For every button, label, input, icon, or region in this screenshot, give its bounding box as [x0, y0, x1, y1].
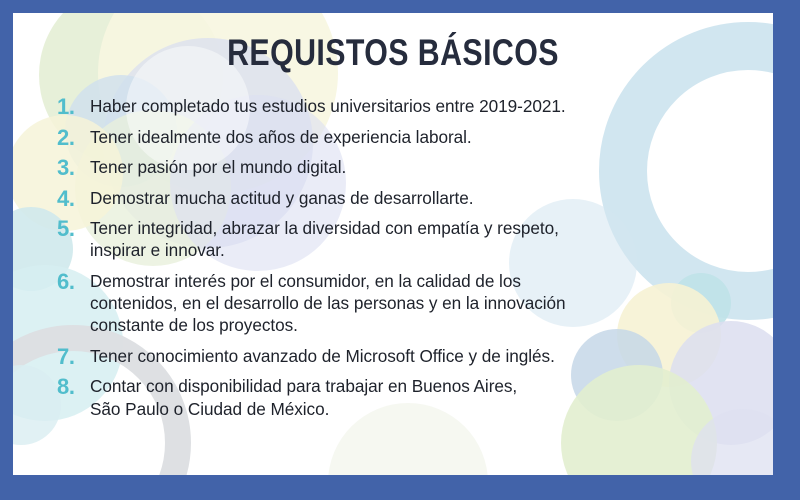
list-item-text: Tener pasión por el mundo digital.: [90, 156, 763, 178]
list-item: 7. Tener conocimiento avanzado de Micros…: [57, 345, 763, 367]
slide-frame: REQUISTOS BÁSICOS 1. Haber completado tu…: [0, 0, 800, 500]
page-title: REQUISTOS BÁSICOS: [81, 32, 704, 74]
list-item-number: 3.: [57, 155, 84, 181]
list-item-text: Tener integridad, abrazar la diversidad …: [90, 217, 763, 261]
list-item-text: Demostrar mucha actitud y ganas de desar…: [90, 187, 763, 209]
list-item-number: 8.: [57, 374, 84, 400]
list-item: 4. Demostrar mucha actitud y ganas de de…: [57, 187, 763, 209]
list-item: 5. Tener integridad, abrazar la diversid…: [57, 217, 763, 261]
list-item-text: Demostrar interés por el consumidor, en …: [90, 270, 763, 336]
list-item: 8. Contar con disponibilidad para trabaj…: [57, 375, 763, 419]
list-item-number: 4.: [57, 186, 84, 212]
requirements-list: 1. Haber completado tus estudios univers…: [57, 95, 763, 428]
list-item-number: 5.: [57, 216, 84, 242]
slide-content: REQUISTOS BÁSICOS 1. Haber completado tu…: [13, 13, 773, 475]
list-item-number: 7.: [57, 344, 84, 370]
list-item-text: Tener conocimiento avanzado de Microsoft…: [90, 345, 763, 367]
list-item: 1. Haber completado tus estudios univers…: [57, 95, 763, 117]
slide-canvas: REQUISTOS BÁSICOS 1. Haber completado tu…: [13, 13, 773, 475]
list-item-text: Haber completado tus estudios universita…: [90, 95, 763, 117]
list-item: 6. Demostrar interés por el consumidor, …: [57, 270, 763, 336]
list-item-text: Contar con disponibilidad para trabajar …: [90, 375, 763, 419]
list-item: 3. Tener pasión por el mundo digital.: [57, 156, 763, 178]
list-item-number: 1.: [57, 94, 84, 120]
list-item-number: 2.: [57, 125, 84, 151]
list-item-text: Tener idealmente dos años de experiencia…: [90, 126, 763, 148]
list-item: 2. Tener idealmente dos años de experien…: [57, 126, 763, 148]
list-item-number: 6.: [57, 269, 84, 295]
